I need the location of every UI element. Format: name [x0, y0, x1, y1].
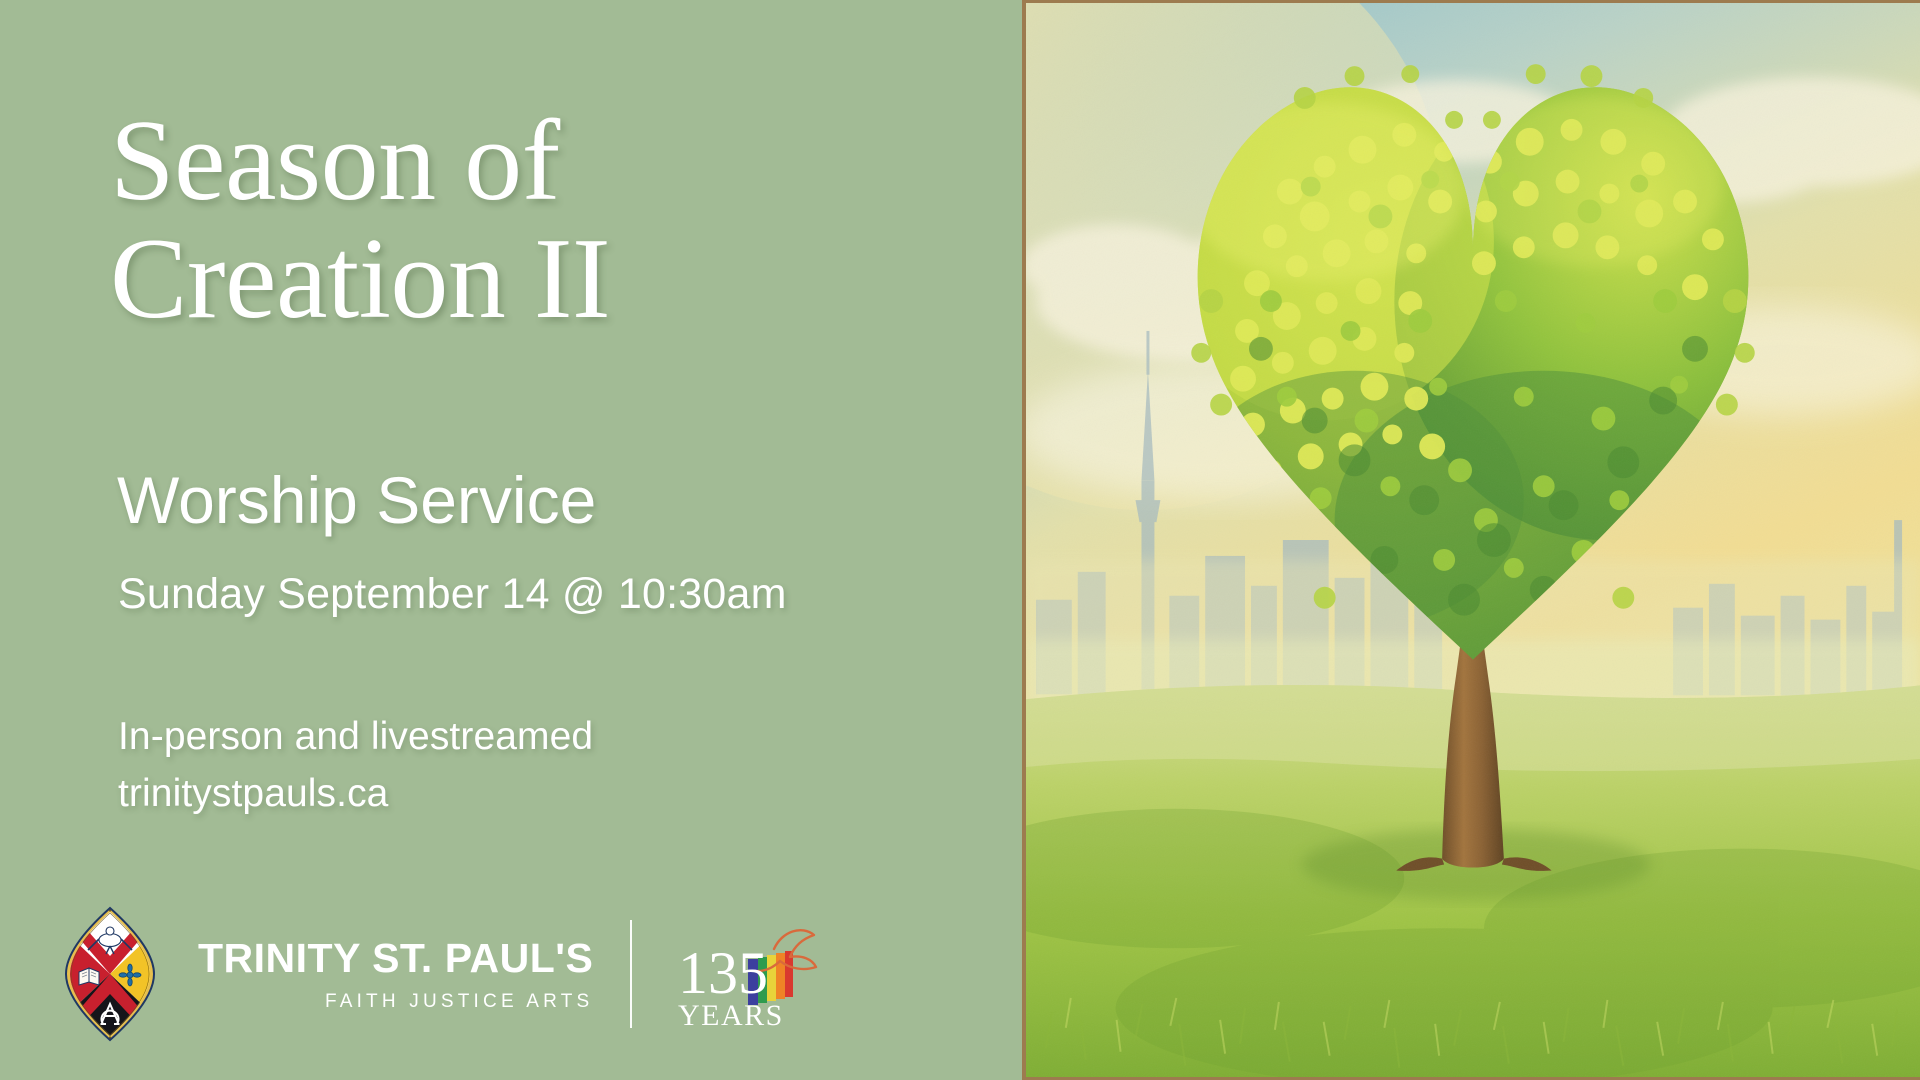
- anniversary-135-years-logo: 135 YEARS: [662, 915, 822, 1033]
- page-title: Season of Creation II: [110, 102, 930, 339]
- trinity-st-pauls-wordmark: TRINITY ST. PAUL'S FAITH JUSTICE ARTS: [198, 938, 593, 1011]
- svg-text:135: 135: [678, 940, 768, 1006]
- page-title-line-1: Season of: [110, 102, 930, 220]
- event-subtitle: Worship Service: [117, 462, 596, 538]
- poster-canvas: Season of Creation II Worship Service Su…: [0, 0, 1920, 1080]
- wordmark-tagline: FAITH JUSTICE ARTS: [198, 992, 593, 1011]
- wordmark-title: TRINITY ST. PAUL'S: [198, 938, 593, 979]
- svg-text:YEARS: YEARS: [678, 999, 784, 1032]
- website-url[interactable]: trinitystpauls.ca: [118, 766, 593, 823]
- event-details: In-person and livestreamed trinitystpaul…: [118, 709, 593, 822]
- event-datetime: Sunday September 14 @ 10:30am: [118, 570, 787, 619]
- attendance-mode: In-person and livestreamed: [118, 709, 593, 766]
- footer-divider: [630, 920, 632, 1028]
- united-church-crest-icon: [62, 906, 158, 1042]
- page-title-line-2: Creation II: [110, 220, 930, 338]
- artwork-panel: [1022, 0, 1920, 1080]
- text-panel: Season of Creation II Worship Service Su…: [0, 0, 1022, 1080]
- branding-footer: TRINITY ST. PAUL'S FAITH JUSTICE ARTS: [62, 906, 822, 1042]
